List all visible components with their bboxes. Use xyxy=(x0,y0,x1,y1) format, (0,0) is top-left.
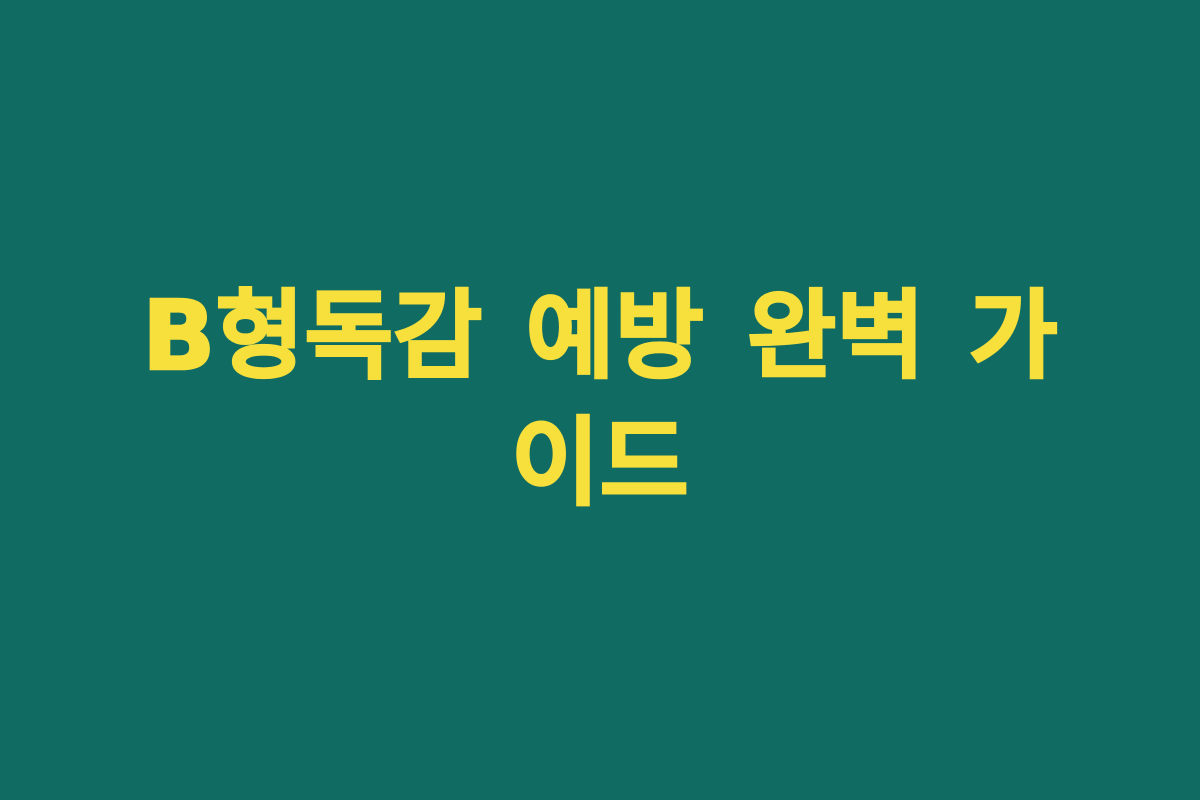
title-banner: B형독감 예방 완벽 가이드 xyxy=(0,0,1200,800)
headline-block: B형독감 예방 완벽 가이드 xyxy=(100,273,1100,526)
page-title: B형독감 예방 완벽 가이드 xyxy=(105,273,1095,526)
